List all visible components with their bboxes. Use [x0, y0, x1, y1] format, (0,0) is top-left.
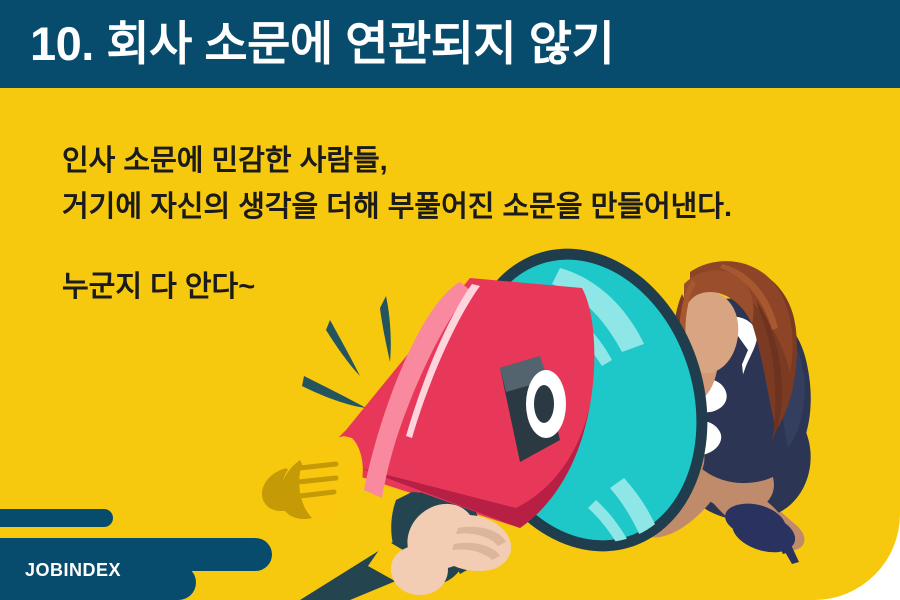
decor-bar-top	[0, 509, 113, 527]
copy-line-2: 거기에 자신의 생각을 더해 부풀어진 소문을 만들어낸다.	[62, 184, 882, 230]
header-bar: 10. 회사 소문에 연관되지 않기	[0, 0, 900, 88]
poster-card: 10. 회사 소문에 연관되지 않기 인사 소문에 민감한 사람들, 거기에 자…	[0, 0, 900, 600]
sound-rays-shapes	[302, 296, 391, 408]
page-title: 10. 회사 소문에 연관되지 않기	[30, 8, 614, 80]
copy-line-1: 인사 소문에 민감한 사람들,	[62, 138, 882, 184]
copy-spacer	[62, 230, 882, 264]
copy-closing-line: 누군지 다 안다~	[62, 264, 882, 310]
body-copy: 인사 소문에 민감한 사람들, 거기에 자신의 생각을 더해 부풀어진 소문을 …	[62, 138, 882, 310]
jobindex-logo: JOBINDEX	[25, 560, 121, 581]
